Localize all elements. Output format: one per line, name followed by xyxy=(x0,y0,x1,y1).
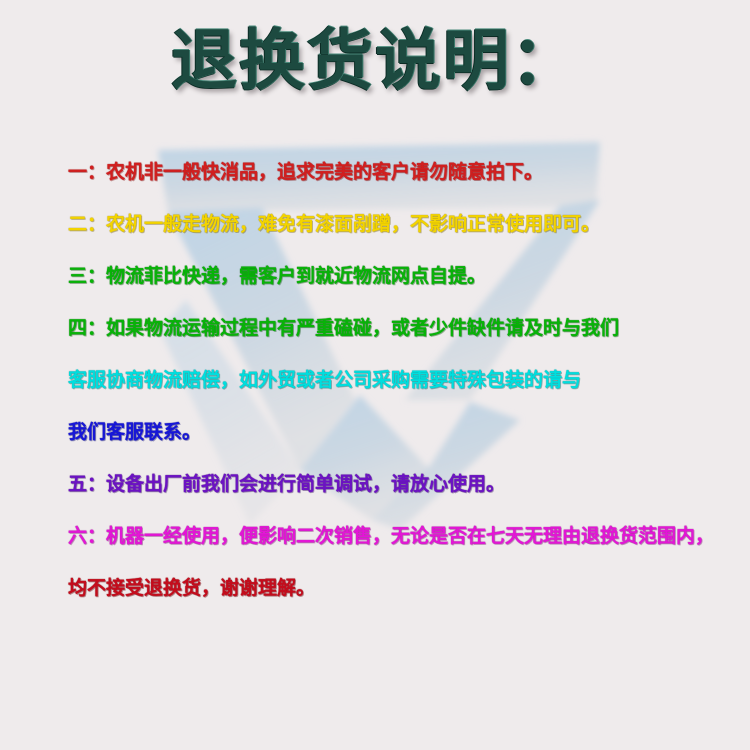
policy-line-4a: 四：如果物流运输过程中有严重磕碰，或者少件缺件请及时与我们 xyxy=(68,302,728,354)
return-policy-list: 一：农机非一般快消品，追求完美的客户请勿随意拍下。 二：农机一般走物流，难免有漆… xyxy=(68,146,728,614)
policy-line-2: 二：农机一般走物流，难免有漆面剐蹭，不影响正常使用即可。 xyxy=(68,198,728,250)
policy-line-6b: 均不接受退换货，谢谢理解。 xyxy=(68,562,728,614)
policy-line-1: 一：农机非一般快消品，追求完美的客户请勿随意拍下。 xyxy=(68,146,728,198)
policy-line-6a: 六：机器一经使用，便影响二次销售，无论是否在七天无理由退换货范围内， xyxy=(68,510,728,562)
policy-line-4b: 客服协商物流赔偿，如外贸或者公司采购需要特殊包装的请与 xyxy=(68,354,728,406)
policy-line-5: 五：设备出厂前我们会进行简单调试，请放心使用。 xyxy=(68,458,728,510)
policy-line-3: 三：物流菲比快递，需客户到就近物流网点自提。 xyxy=(68,250,728,302)
return-policy-page: 退换货说明： 一：农机非一般快消品，追求完美的客户请勿随意拍下。 二：农机一般走… xyxy=(0,0,750,750)
policy-line-4c: 我们客服联系。 xyxy=(68,406,728,458)
page-title: 退换货说明： xyxy=(171,26,579,95)
page-title-container: 退换货说明： xyxy=(0,26,750,95)
